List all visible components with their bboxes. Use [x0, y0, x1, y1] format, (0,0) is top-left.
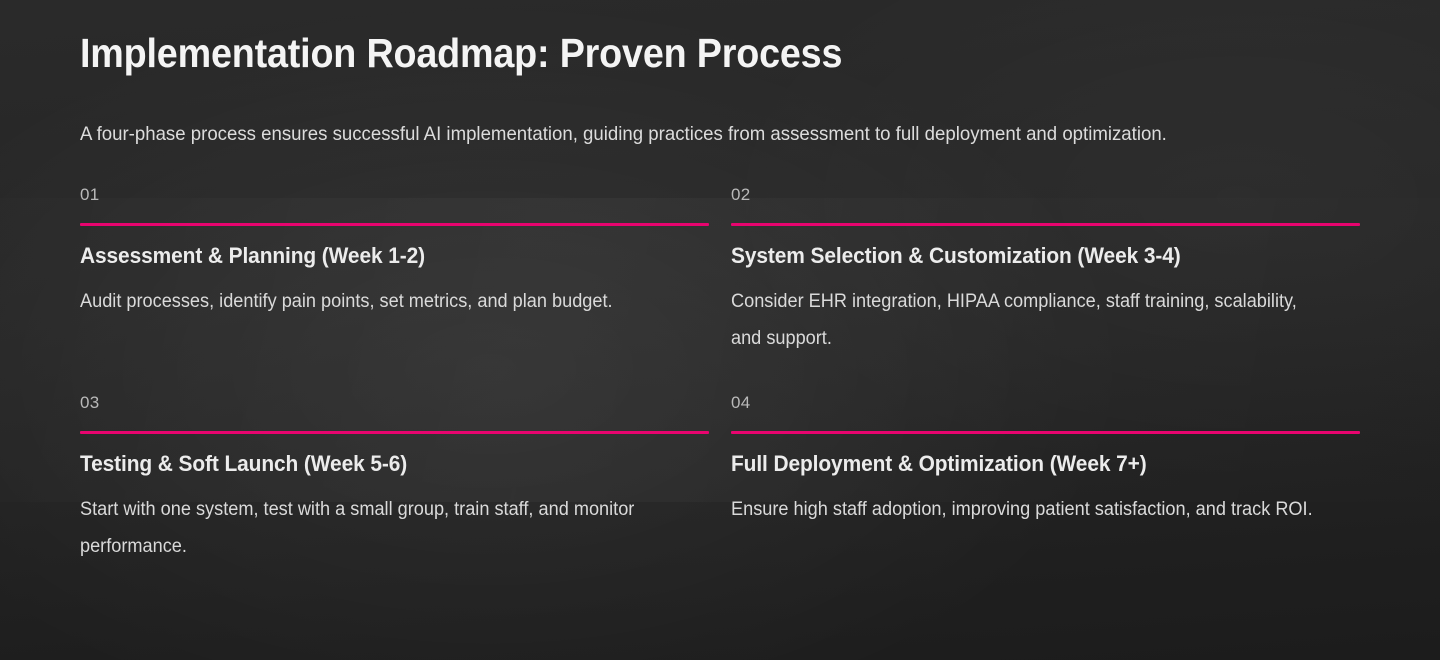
phase-heading: Full Deployment & Optimization (Week 7+) [731, 434, 1329, 479]
phase-heading: System Selection & Customization (Week 3… [731, 226, 1329, 271]
phase-card-04: 04 Full Deployment & Optimization (Week … [731, 357, 1360, 565]
slide-root: Implementation Roadmap: Proven Process A… [0, 0, 1440, 660]
phase-number: 03 [80, 393, 709, 413]
phase-body: Audit processes, identify pain points, s… [80, 270, 677, 320]
phase-card-03: 03 Testing & Soft Launch (Week 5-6) Star… [80, 357, 709, 565]
phase-grid: 01 Assessment & Planning (Week 1-2) Audi… [80, 153, 1360, 565]
phase-card-01: 01 Assessment & Planning (Week 1-2) Audi… [80, 185, 709, 357]
phase-heading: Testing & Soft Launch (Week 5-6) [80, 434, 678, 479]
phase-body: Start with one system, test with a small… [80, 478, 677, 565]
slide-intro-text: A four-phase process ensures successful … [80, 78, 1237, 153]
phase-body: Consider EHR integration, HIPAA complian… [731, 270, 1328, 357]
slide-content: Implementation Roadmap: Proven Process A… [0, 0, 1440, 565]
phase-number: 01 [80, 185, 709, 205]
phase-number: 02 [731, 185, 1360, 205]
phase-heading: Assessment & Planning (Week 1-2) [80, 226, 678, 271]
phase-number: 04 [731, 393, 1360, 413]
phase-body: Ensure high staff adoption, improving pa… [731, 478, 1328, 528]
page-title: Implementation Roadmap: Proven Process [80, 0, 1258, 78]
phase-card-02: 02 System Selection & Customization (Wee… [731, 185, 1360, 357]
